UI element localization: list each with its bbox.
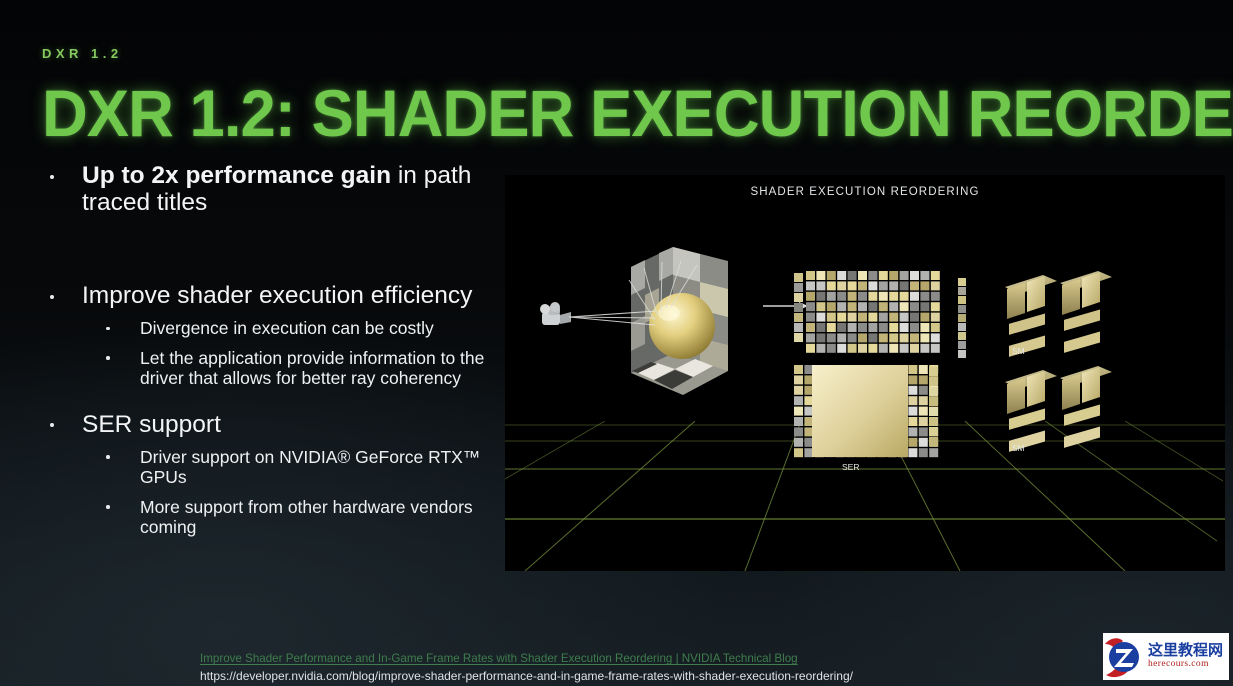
divergent-thread-grid: [794, 271, 940, 353]
bullet-1-bold: Up to 2x performance gain: [82, 162, 391, 189]
bullet-item-1: Up to 2x performance gain in path traced…: [42, 162, 494, 216]
bullet-item-2: Improve shader execution efficiency: [42, 282, 494, 309]
ser-diagram-panel: SHADER EXECUTION REORDERING: [505, 175, 1225, 571]
bullet-dot-icon: [106, 356, 110, 360]
ser-label: SER: [842, 462, 859, 472]
bullet-2-label: Improve shader execution efficiency: [82, 282, 472, 309]
bullet-item-3: SER support: [42, 411, 494, 438]
bullet-2-sub-2-label: Let the application provide information …: [140, 348, 484, 389]
bullet-list: Up to 2x performance gain in path traced…: [42, 162, 494, 538]
sm-units-top: SM: [958, 271, 1112, 358]
camera-icon: [540, 302, 571, 325]
watermark-logo-icon: [1103, 635, 1147, 679]
sm-units-bottom: SM: [1005, 366, 1112, 453]
watermark-text: 这里教程网 herecours.com: [1147, 643, 1229, 670]
bullet-dot-icon: [50, 175, 54, 179]
bullet-dot-icon: [50, 423, 54, 427]
bullet-dot-icon: [106, 455, 110, 459]
bullet-3-sub-1-label: Driver support on NVIDIA® GeForce RTX™ G…: [140, 447, 480, 488]
bullet-item-3-sub-1: Driver support on NVIDIA® GeForce RTX™ G…: [42, 447, 494, 488]
bullet-item-2-sub-2: Let the application provide information …: [42, 348, 494, 389]
bullet-3-label: SER support: [82, 411, 221, 438]
sm-top-label: SM: [1012, 346, 1025, 356]
gold-sphere-icon: [649, 293, 715, 359]
bullet-item-3-sub-2: More support from other hardware vendors…: [42, 497, 494, 538]
bullet-3-sub-2-label: More support from other hardware vendors…: [140, 497, 473, 538]
bullet-dot-icon: [106, 505, 110, 509]
source-link[interactable]: Improve Shader Performance and In-Game F…: [200, 652, 798, 665]
divergent-strip: [794, 273, 803, 342]
page-title: DXR 1.2: SHADER EXECUTION REORDERING (SE…: [42, 76, 1146, 150]
watermark-en: herecours.com: [1148, 660, 1229, 670]
watermark-cn: 这里教程网: [1148, 643, 1229, 658]
watermark: 这里教程网 herecours.com: [1103, 633, 1229, 680]
slide-eyebrow: DXR 1.2: [42, 46, 123, 61]
footer-source: Improve Shader Performance and In-Game F…: [200, 649, 1100, 683]
ser-reorder-group: SER: [794, 365, 938, 472]
sm-bottom-label: SM: [1012, 443, 1025, 453]
slide-canvas: DXR 1.2 DXR 1.2: SHADER EXECUTION REORDE…: [0, 0, 1233, 686]
bullet-item-2-sub-1: Divergence in execution can be costly: [42, 318, 494, 339]
source-url: https://developer.nvidia.com/blog/improv…: [200, 669, 1100, 683]
bullet-2-sub-1-label: Divergence in execution can be costly: [140, 318, 434, 338]
ser-illustration: SM SER: [505, 175, 1225, 571]
watermark-logo-svg: [1103, 635, 1147, 679]
bullet-dot-icon: [106, 327, 110, 331]
bullet-dot-icon: [50, 295, 54, 299]
ray-traced-scene-icon: [540, 247, 728, 395]
ser-block: [812, 365, 908, 457]
